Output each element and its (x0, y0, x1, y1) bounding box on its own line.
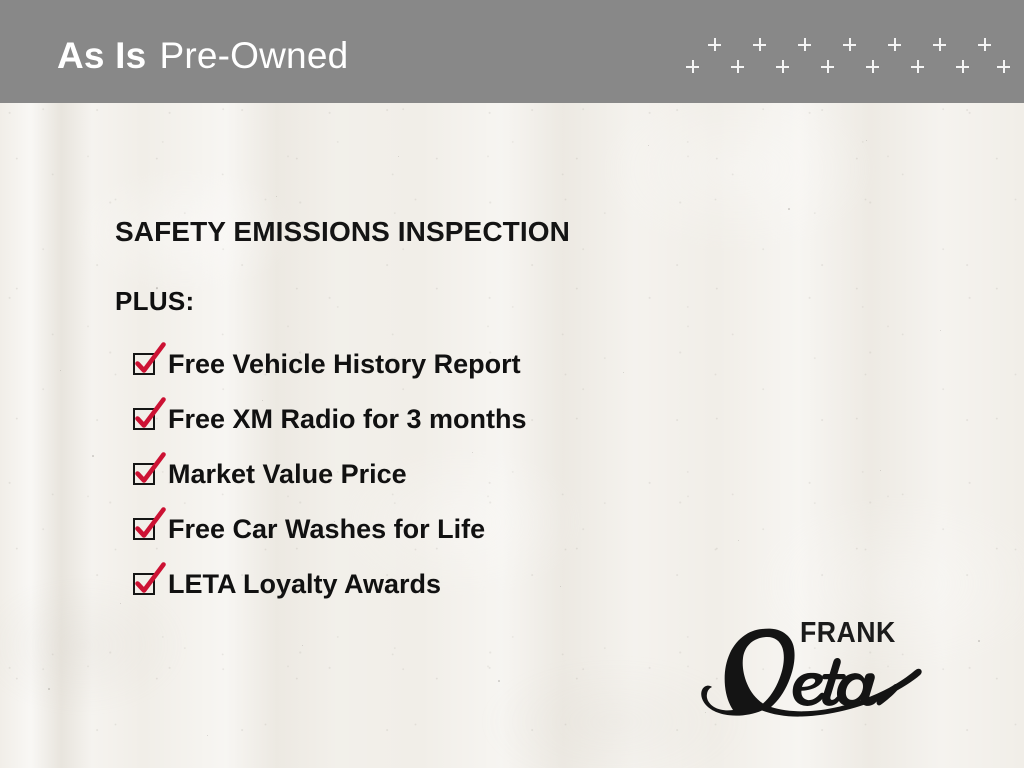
plus-icon (978, 38, 991, 51)
plus-icon (997, 60, 1010, 73)
benefit-item[interactable]: Free Vehicle History Report (133, 336, 733, 391)
plus-label: PLUS: (115, 286, 195, 316)
benefit-item[interactable]: Market Value Price (133, 446, 733, 501)
frank-leta-logo: FRANK (700, 608, 930, 726)
checkbox[interactable] (133, 573, 155, 595)
checkbox[interactable] (133, 353, 155, 375)
benefit-item[interactable]: Free Car Washes for Life (133, 501, 733, 556)
plus-icon (776, 60, 789, 73)
headline-text: SAFETY EMISSIONS INSPECTION (115, 215, 570, 249)
plus-icon (686, 60, 699, 73)
benefits-list: Free Vehicle History ReportFree XM Radio… (133, 336, 733, 611)
check-icon (133, 508, 167, 542)
benefit-label: Free Vehicle History Report (168, 349, 521, 379)
benefit-item[interactable]: LETA Loyalty Awards (133, 556, 733, 611)
checkbox[interactable] (133, 408, 155, 430)
check-icon (133, 453, 167, 487)
plus-icon (731, 60, 744, 73)
logo-leta-script (700, 626, 930, 726)
plus-icon (798, 38, 811, 51)
page-title: As IsPre-Owned (57, 34, 348, 78)
plus-pattern-decoration (672, 38, 1012, 90)
page-title-light: Pre-Owned (159, 35, 348, 76)
page-title-strong: As Is (57, 35, 146, 76)
plus-icon (708, 38, 721, 51)
header-bar: As IsPre-Owned (0, 0, 1024, 103)
plus-icon (956, 60, 969, 73)
check-icon (133, 343, 167, 377)
plus-icon (843, 38, 856, 51)
checkbox[interactable] (133, 518, 155, 540)
check-icon (133, 563, 167, 597)
benefit-item[interactable]: Free XM Radio for 3 months (133, 391, 733, 446)
benefit-label: Free Car Washes for Life (168, 514, 485, 544)
benefit-label: Free XM Radio for 3 months (168, 404, 527, 434)
slide-canvas: As IsPre-Owned SAFETY EMISSIONS INSPECTI… (0, 0, 1024, 768)
benefit-label: LETA Loyalty Awards (168, 569, 441, 599)
plus-icon (888, 38, 901, 51)
checkbox[interactable] (133, 463, 155, 485)
plus-icon (821, 60, 834, 73)
plus-icon (753, 38, 766, 51)
plus-icon (933, 38, 946, 51)
benefit-label: Market Value Price (168, 459, 407, 489)
plus-icon (911, 60, 924, 73)
plus-icon (866, 60, 879, 73)
check-icon (133, 398, 167, 432)
